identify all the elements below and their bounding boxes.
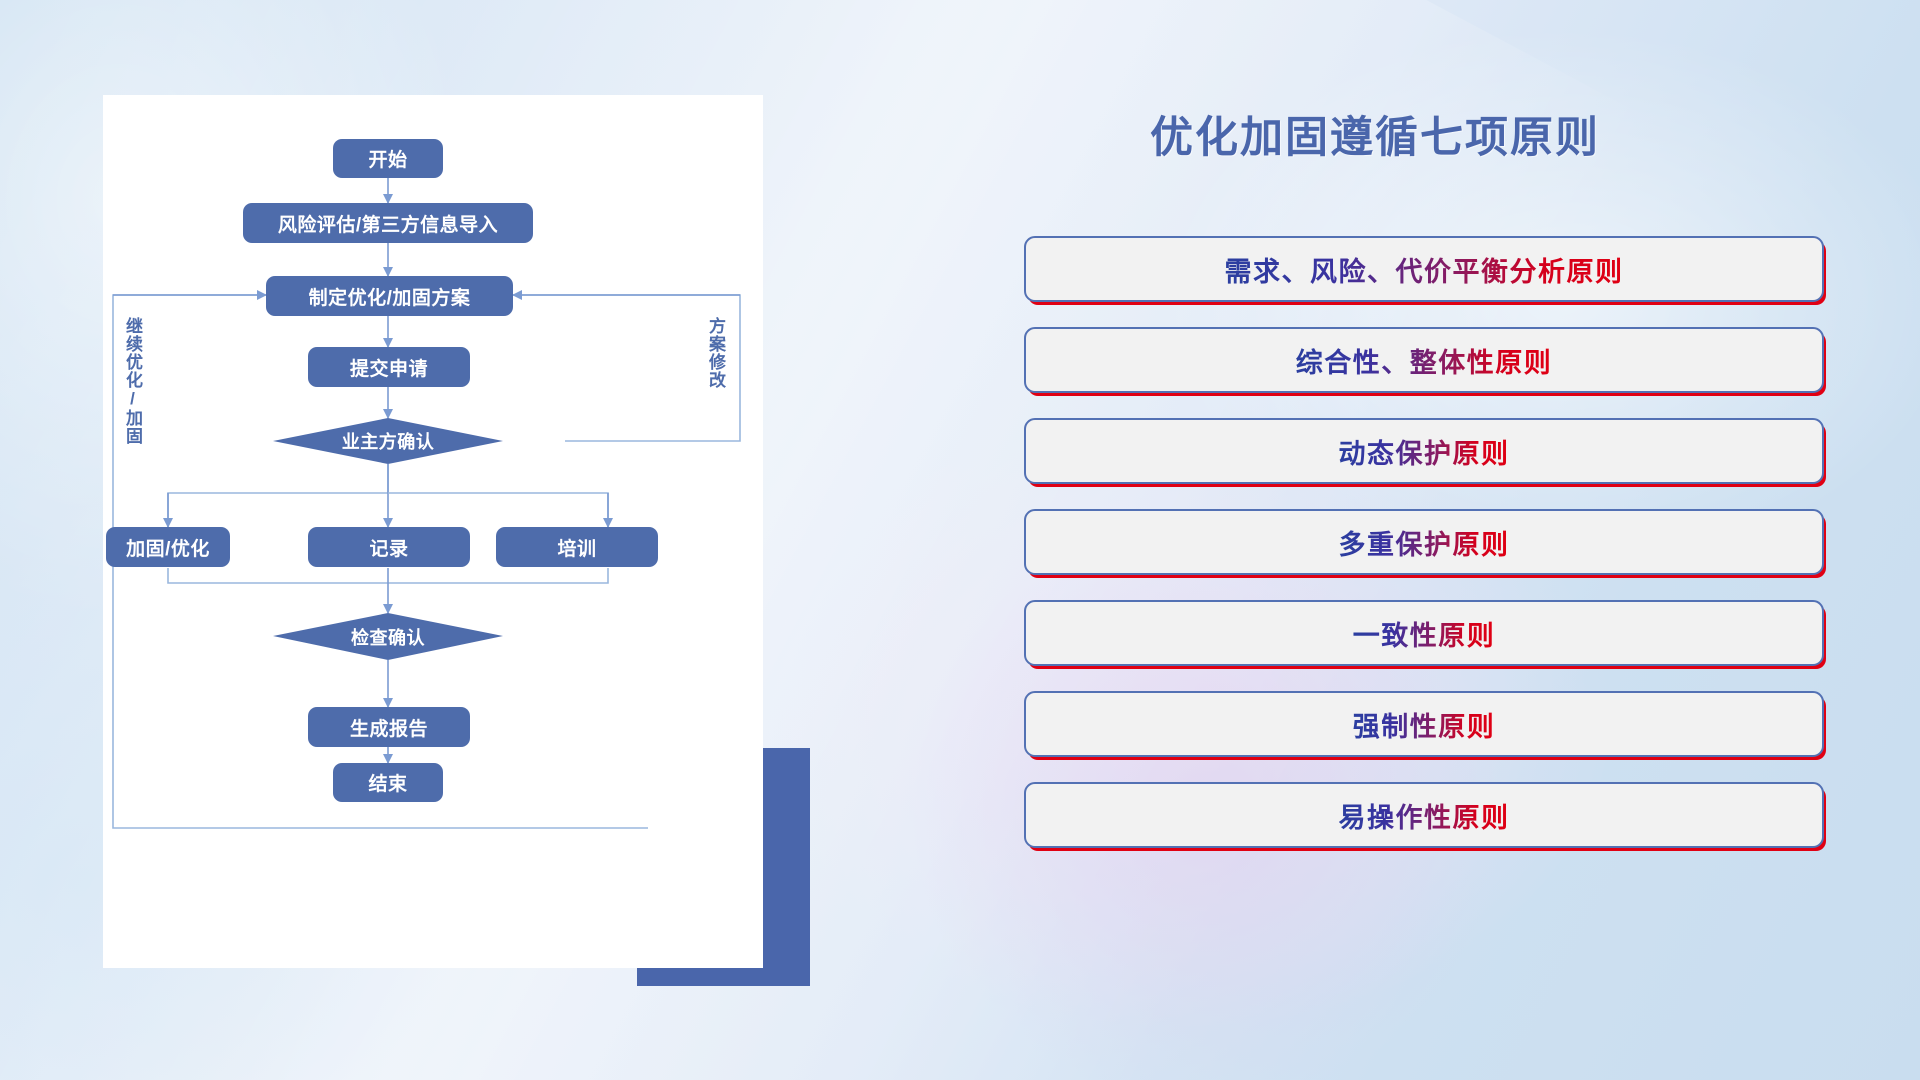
flow-node-owner-confirm[interactable]: 业主方确认 — [273, 418, 503, 464]
principle-item[interactable]: 一致性原则 — [1024, 600, 1824, 666]
flowchart-card: 开始 风险评估/第三方信息导入 制定优化/加固方案 提交申请 业主方确认 加固/… — [103, 95, 763, 968]
flow-node-start-label: 开始 — [368, 145, 407, 172]
principle-label: 需求、风险、代价平衡分析原则 — [1225, 250, 1624, 289]
flow-node-risk-assessment-label: 风险评估/第三方信息导入 — [278, 210, 498, 237]
flow-node-end[interactable]: 结束 — [333, 763, 443, 802]
principle-item[interactable]: 需求、风险、代价平衡分析原则 — [1024, 236, 1824, 302]
flow-node-make-plan-label: 制定优化/加固方案 — [309, 283, 471, 310]
flow-node-owner-confirm-label: 业主方确认 — [342, 428, 435, 454]
principle-item[interactable]: 多重保护原则 — [1024, 509, 1824, 575]
flow-node-end-label: 结束 — [368, 769, 407, 796]
flow-node-generate-report-label: 生成报告 — [350, 714, 428, 741]
principle-label: 动态保护原则 — [1339, 432, 1510, 471]
flow-node-check-confirm-label: 检查确认 — [351, 624, 425, 650]
principle-item[interactable]: 强制性原则 — [1024, 691, 1824, 757]
principle-item[interactable]: 易操作性原则 — [1024, 782, 1824, 848]
flow-node-submit-label: 提交申请 — [350, 354, 428, 381]
flow-node-record[interactable]: 记录 — [308, 527, 470, 567]
principle-label: 强制性原则 — [1353, 705, 1496, 744]
flow-edge-label-right-loop: 方案修改 — [706, 317, 725, 409]
slide-canvas: 开始 风险评估/第三方信息导入 制定优化/加固方案 提交申请 业主方确认 加固/… — [0, 0, 1920, 1080]
flow-node-training-label: 培训 — [557, 534, 596, 561]
flow-node-submit[interactable]: 提交申请 — [308, 347, 470, 387]
flow-node-reinforce-label: 加固/优化 — [126, 534, 210, 561]
flow-node-make-plan[interactable]: 制定优化/加固方案 — [266, 276, 513, 316]
principle-label: 一致性原则 — [1353, 614, 1496, 653]
principles-list: 需求、风险、代价平衡分析原则 综合性、整体性原则 动态保护原则 多重保护原则 一… — [1024, 236, 1824, 873]
flow-node-risk-assessment[interactable]: 风险评估/第三方信息导入 — [243, 203, 533, 243]
principle-label: 多重保护原则 — [1339, 523, 1510, 562]
flow-node-start[interactable]: 开始 — [333, 139, 443, 178]
principle-item[interactable]: 动态保护原则 — [1024, 418, 1824, 484]
flow-edge-label-left-loop: 继续优化/加固 — [123, 317, 142, 447]
flow-node-reinforce[interactable]: 加固/优化 — [106, 527, 230, 567]
flow-node-check-confirm[interactable]: 检查确认 — [273, 613, 503, 660]
principle-label: 综合性、整体性原则 — [1296, 341, 1553, 380]
flow-node-training[interactable]: 培训 — [496, 527, 658, 567]
flow-node-record-label: 记录 — [369, 534, 408, 561]
flow-node-generate-report[interactable]: 生成报告 — [308, 707, 470, 747]
page-title: 优化加固遵循七项原则 — [1150, 103, 1600, 165]
principle-item[interactable]: 综合性、整体性原则 — [1024, 327, 1824, 393]
principle-label: 易操作性原则 — [1339, 796, 1510, 835]
